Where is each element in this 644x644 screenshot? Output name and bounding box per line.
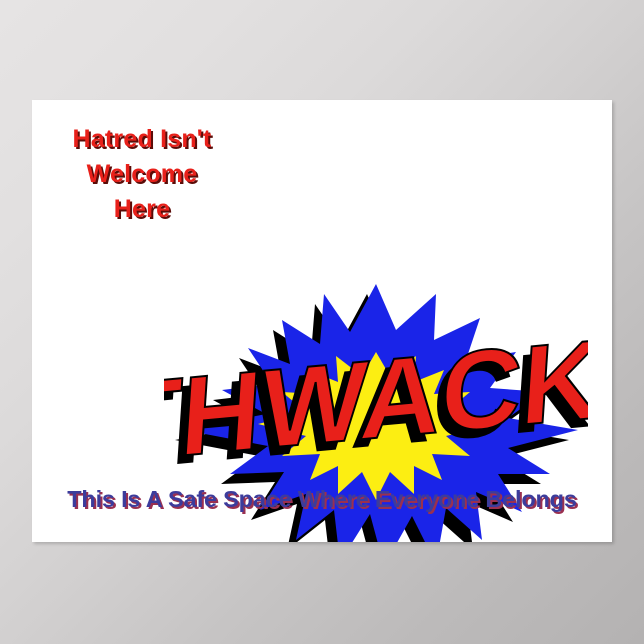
poster-sheet: Hatred Isn't Welcome Here: [32, 100, 612, 542]
headline-line-1: Hatred Isn't: [38, 122, 246, 157]
poster-preview-canvas: Hatred Isn't Welcome Here: [0, 0, 644, 644]
headline-line-2: Welcome: [38, 157, 246, 192]
poster-headline: Hatred Isn't Welcome Here: [38, 122, 246, 227]
poster-tagline: This Is A Safe Space Where Everyone Belo…: [32, 486, 612, 513]
headline-line-3: Here: [38, 192, 246, 227]
